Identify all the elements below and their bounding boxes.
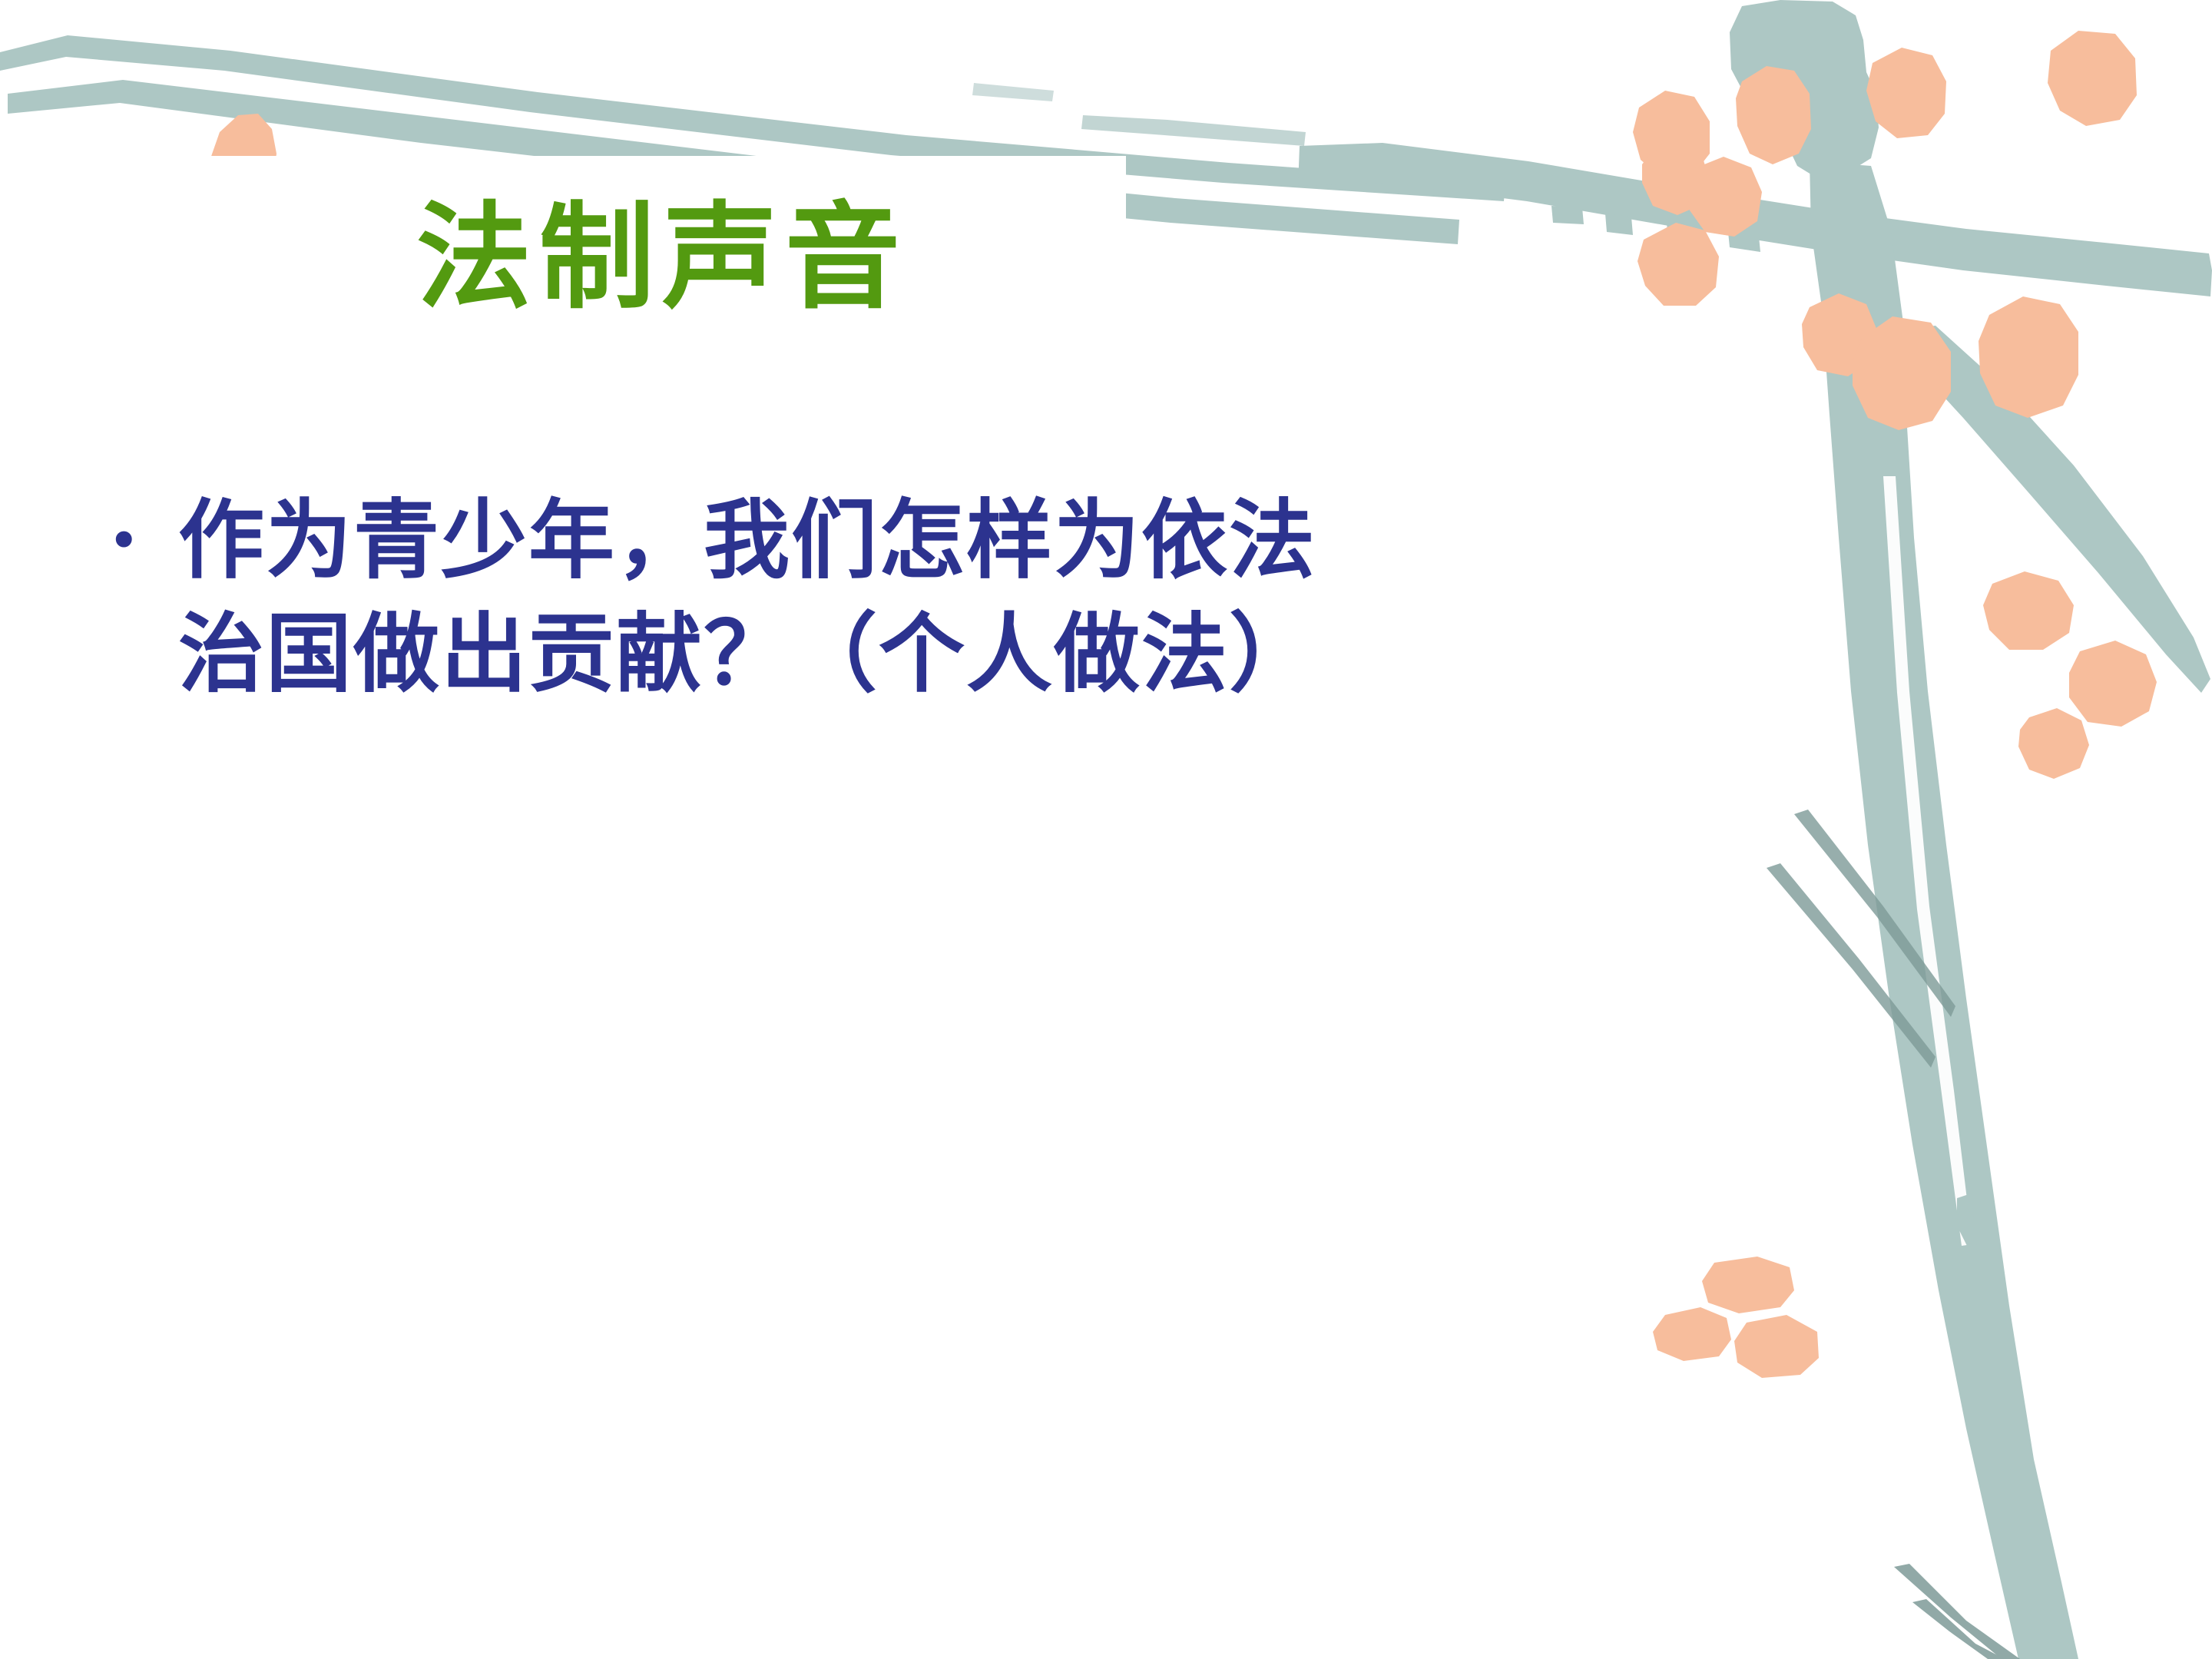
page-title: 法制声音 bbox=[198, 163, 1126, 351]
branch-limb-horizontal bbox=[1298, 143, 2212, 296]
list-item: • 作为青少年，我们怎样为依法治国做出贡献？（个人做法） bbox=[108, 484, 1644, 711]
blossom-group-mid bbox=[1633, 91, 2078, 430]
branch-trunk-head bbox=[1730, 0, 1879, 178]
branch-thin-strokes-mid bbox=[1767, 810, 1955, 1068]
bullet-text: 作为青少年，我们怎样为依法治国做出贡献？（个人做法） bbox=[178, 484, 1376, 711]
branch-trunk-main bbox=[1810, 161, 2078, 1659]
blossom-group-right-mid bbox=[1983, 571, 2157, 779]
slide-canvas: 法制声音 • 作为青少年，我们怎样为依法治国做出贡献？（个人做法） bbox=[0, 0, 2212, 1659]
branch-strokes-bottom bbox=[1894, 1564, 2020, 1659]
blossom-group-bottom bbox=[1653, 1257, 1819, 1378]
bullet-marker-icon: • bbox=[108, 484, 178, 598]
blossom-group-top bbox=[209, 31, 2137, 166]
branch-stroke-flicks bbox=[972, 83, 1306, 146]
branch-leaf-right bbox=[1899, 326, 2210, 693]
slide-body: • 作为青少年，我们怎样为依法治国做出贡献？（个人做法） bbox=[108, 484, 1644, 711]
branch-trunk-highlight bbox=[1883, 476, 1972, 1246]
branch-inner-split bbox=[1957, 1194, 1977, 1253]
